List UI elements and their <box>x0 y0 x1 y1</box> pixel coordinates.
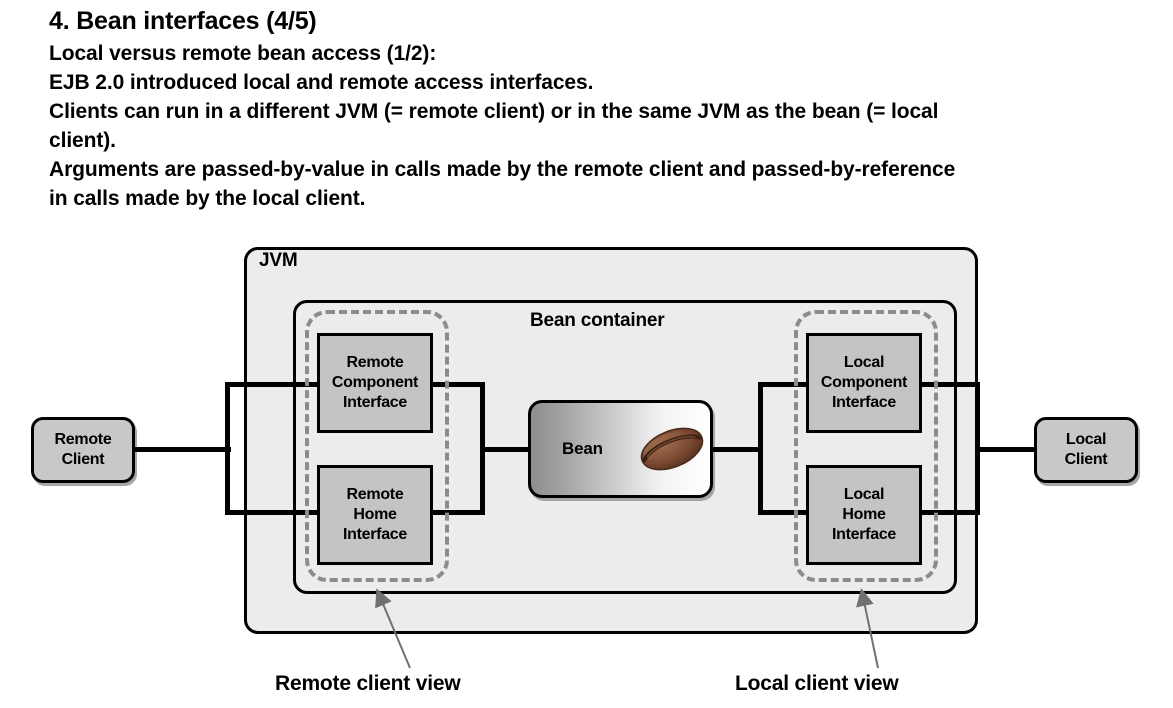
local-home-line2: Home <box>842 506 885 523</box>
remote-client-line2: Client <box>62 451 105 468</box>
connector-local-client <box>975 447 1037 452</box>
local-client-line2: Client <box>1065 451 1108 468</box>
local-component-line1: Local <box>844 354 884 371</box>
connector-bean-to-local <box>708 447 763 452</box>
connector-remote-client <box>132 447 231 452</box>
bean-interfaces-diagram: JVM Bean container Remote Component Inte… <box>0 0 1173 708</box>
remote-client-box: Remote Client <box>31 417 135 483</box>
bean-label: Bean <box>562 439 603 459</box>
remote-home-line3: Interface <box>343 526 407 543</box>
remote-component-line2: Component <box>332 374 418 391</box>
local-component-line3: Interface <box>832 394 896 411</box>
local-client-view-caption: Local client view <box>735 672 899 696</box>
local-component-line2: Component <box>821 374 907 391</box>
remote-component-interface-box: Remote Component Interface <box>317 333 433 433</box>
remote-component-line3: Interface <box>343 394 407 411</box>
connector-remote-bracket-vertical <box>225 382 230 515</box>
local-client-box: Local Client <box>1034 417 1138 483</box>
bean-container-label: Bean container <box>530 310 664 332</box>
local-client-line1: Local <box>1066 431 1106 448</box>
jvm-label: JVM <box>259 250 297 272</box>
remote-home-line1: Remote <box>347 486 404 503</box>
remote-client-view-caption: Remote client view <box>275 672 460 696</box>
local-home-interface-box: Local Home Interface <box>806 465 922 565</box>
coffee-bean-icon <box>636 422 708 477</box>
local-component-interface-box: Local Component Interface <box>806 333 922 433</box>
remote-component-line1: Remote <box>347 354 404 371</box>
remote-home-interface-box: Remote Home Interface <box>317 465 433 565</box>
connector-remote-to-bean <box>480 447 535 452</box>
remote-home-line2: Home <box>353 506 396 523</box>
remote-client-line1: Remote <box>55 431 112 448</box>
local-home-line1: Local <box>844 486 884 503</box>
local-home-line3: Interface <box>832 526 896 543</box>
